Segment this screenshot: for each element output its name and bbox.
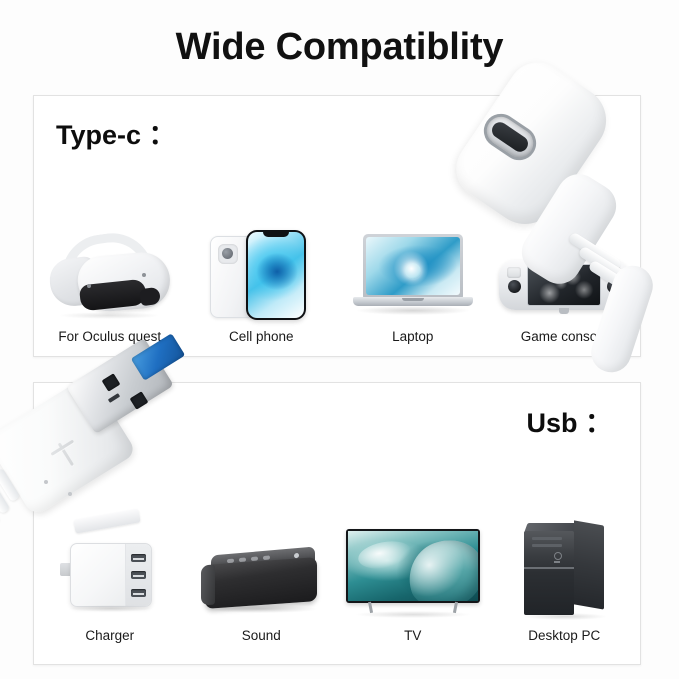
device-item-tv: TV: [339, 493, 487, 643]
device-row-usb: Charger: [34, 493, 640, 643]
device-label-cell-phone: Cell phone: [229, 329, 294, 344]
device-label-charger: Charger: [85, 628, 134, 643]
device-item-game-console: Game console: [490, 214, 638, 344]
device-item-sound: Sound: [187, 493, 335, 643]
device-label-desktop-pc: Desktop PC: [528, 628, 600, 643]
device-label-tv: TV: [404, 628, 421, 643]
device-item-cell-phone: Cell phone: [187, 214, 335, 344]
vr-headset-icon: [40, 224, 180, 320]
device-item-oculus-quest: For Oculus quest: [36, 214, 184, 344]
section-label-type-c: Type-c ：: [56, 113, 176, 152]
section-panel-usb: Usb ：: [33, 382, 641, 665]
device-item-charger: Charger: [36, 493, 184, 643]
section-label-usb: Usb ：: [526, 401, 612, 440]
device-item-laptop: Laptop: [339, 214, 487, 344]
device-label-oculus-quest: For Oculus quest: [58, 329, 161, 344]
device-label-sound: Sound: [242, 628, 281, 643]
device-label-game-console: Game console: [521, 329, 608, 344]
laptop-icon: [343, 224, 483, 320]
desktop-tower-icon: [494, 523, 634, 619]
page-title: Wide Compatiblity: [0, 26, 679, 69]
section-panel-type-c: Type-c ： For Oculus quest: [33, 95, 641, 357]
cell-phone-icon: [191, 224, 331, 320]
infographic-root: Wide Compatiblity Type-c ：: [0, 0, 679, 679]
wall-charger-icon: [40, 523, 180, 619]
game-console-icon: [494, 224, 634, 320]
device-row-type-c: For Oculus quest Cell phone: [34, 214, 640, 344]
device-label-laptop: Laptop: [392, 329, 433, 344]
device-item-desktop-pc: Desktop PC: [490, 493, 638, 643]
speaker-icon: [191, 523, 331, 619]
television-icon: [343, 523, 483, 619]
